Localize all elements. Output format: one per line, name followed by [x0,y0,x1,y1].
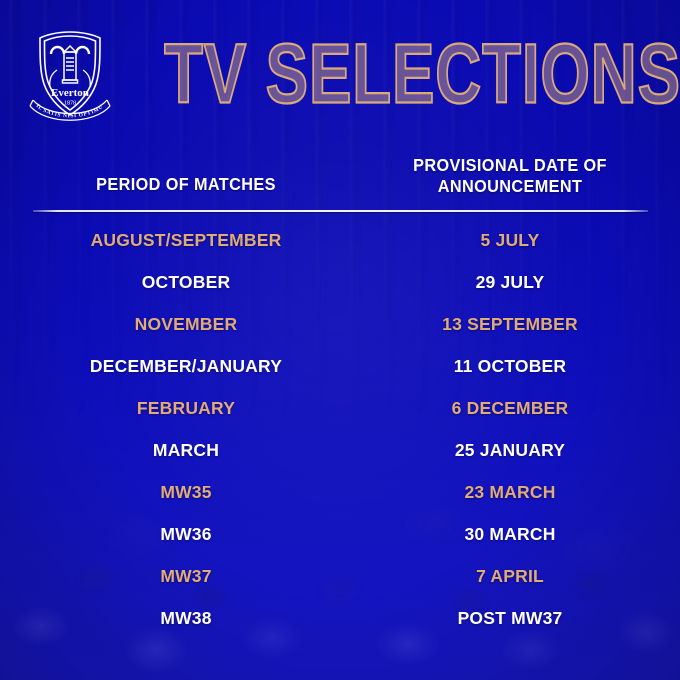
cell-date: 30 MARCH [356,524,664,545]
cell-date-label: 13 SEPTEMBER [442,314,578,334]
cell-date: 6 DECEMBER [356,398,664,419]
cell-date: 7 APRIL [356,566,664,587]
table-row: MW3523 MARCH [0,472,680,514]
table-row: OCTOBER29 JULY [0,262,680,304]
cell-period: FEBRUARY [16,398,356,419]
cell-period-label: AUGUST/SEPTEMBER [91,230,282,250]
tv-selections-graphic: Everton 1878 NIL SATIS NISI OPTIMUM TV S… [0,0,680,680]
cell-period: DECEMBER/JANUARY [16,356,356,377]
cell-period: MW38 [16,608,356,629]
table-row: MW3630 MARCH [0,514,680,556]
header-band: Everton 1878 NIL SATIS NISI OPTIMUM TV S… [0,0,680,148]
title-container: TV SELECTIONS [116,37,680,111]
cell-period: MW36 [16,524,356,545]
cell-date-label: 30 MARCH [464,524,555,544]
cell-period: AUGUST/SEPTEMBER [16,230,356,251]
cell-period: MW35 [16,482,356,503]
cell-date: POST MW37 [356,608,664,629]
cell-date-label: POST MW37 [458,608,563,628]
table-row: NOVEMBER13 SEPTEMBER [0,304,680,346]
column-header-period: PERIOD OF MATCHES [16,174,356,197]
cell-period-label: OCTOBER [142,272,231,292]
cell-date: 29 JULY [356,272,664,293]
header-divider [33,210,648,212]
cell-date-label: 25 JANUARY [455,440,565,460]
table-row: MW377 APRIL [0,556,680,598]
crest-year: 1878 [64,101,76,107]
cell-period-label: MW35 [160,482,211,502]
cell-period-label: MARCH [153,440,219,460]
table-header-row: PERIOD OF MATCHES PROVISIONAL DATE OF AN… [0,155,680,198]
column-header-date: PROVISIONAL DATE OF ANNOUNCEMENT [356,155,664,198]
table-row: AUGUST/SEPTEMBER5 JULY [0,220,680,262]
cell-period-label: FEBRUARY [137,398,235,418]
cell-period-label: DECEMBER/JANUARY [90,356,282,376]
table-body: AUGUST/SEPTEMBER5 JULYOCTOBER29 JULYNOVE… [0,220,680,640]
table-row: MARCH25 JANUARY [0,430,680,472]
cell-period: MW37 [16,566,356,587]
table-row: DECEMBER/JANUARY11 OCTOBER [0,346,680,388]
column-header-date-label: PROVISIONAL DATE OF ANNOUNCEMENT [367,155,653,198]
cell-period-label: MW38 [160,608,211,628]
cell-date-label: 11 OCTOBER [454,356,567,376]
table-row: FEBRUARY6 DECEMBER [0,388,680,430]
crest-club-name: Everton [51,87,89,99]
cell-period: NOVEMBER [16,314,356,335]
cell-date-label: 6 DECEMBER [452,398,569,418]
cell-date-label: 29 JULY [476,272,545,292]
cell-period-label: MW36 [160,524,211,544]
cell-date-label: 23 MARCH [464,482,555,502]
cell-period-label: MW37 [160,566,211,586]
cell-date: 5 JULY [356,230,664,251]
cell-period-label: NOVEMBER [135,314,238,334]
everton-crest-icon: Everton 1878 NIL SATIS NISI OPTIMUM [24,24,116,124]
cell-period: OCTOBER [16,272,356,293]
table-row: MW38POST MW37 [0,598,680,640]
page-title: TV SELECTIONS [164,32,680,116]
cell-date-label: 5 JULY [481,230,540,250]
cell-date: 11 OCTOBER [356,356,664,377]
cell-date: 25 JANUARY [356,440,664,461]
cell-date: 13 SEPTEMBER [356,314,664,335]
cell-date-label: 7 APRIL [476,566,544,586]
selections-table: PERIOD OF MATCHES PROVISIONAL DATE OF AN… [0,155,680,640]
cell-date: 23 MARCH [356,482,664,503]
column-header-period-label: PERIOD OF MATCHES [28,174,344,197]
cell-period: MARCH [16,440,356,461]
